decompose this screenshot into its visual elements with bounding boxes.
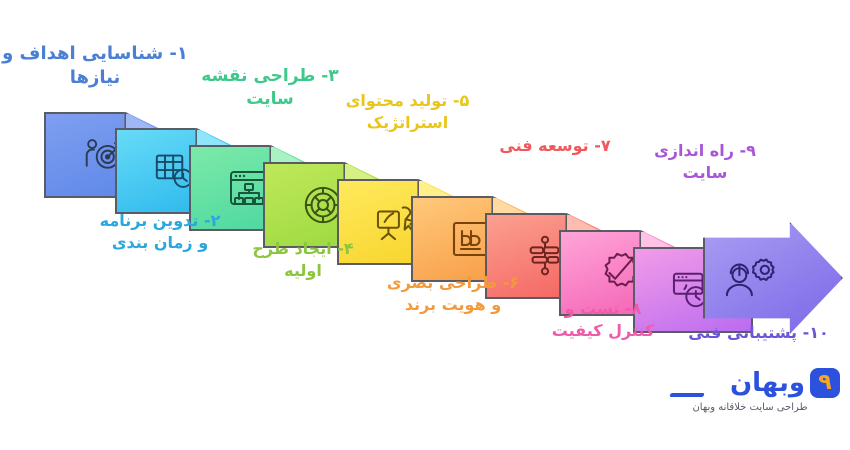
brand-logo: وبهان ۹ طراحی سایت خلاقانه وبهان (660, 368, 840, 413)
logo-tagline: طراحی سایت خلاقانه وبهان (660, 402, 840, 413)
step-label-8: ۸- تست و کنترل کیفیت (528, 298, 678, 341)
step-label-6: ۶- طراحی بصری و هویت برند (378, 272, 528, 315)
step-label-10: ۱۰- پشتیبانی فنی (676, 322, 841, 344)
support-engineer-gear-icon (709, 238, 790, 319)
step-label-3: ۳- طراحی نقشه سایت (195, 65, 345, 111)
step-card-10 (703, 222, 843, 334)
logo-swoosh-icon (669, 393, 704, 397)
step-label-4: ۴- ایجاد طرح اولیه (228, 238, 378, 281)
logo-wordmark: وبهان (730, 370, 805, 396)
step-label-5: ۵- تولید محتوای استراتژیک (330, 90, 485, 133)
infographic-canvas: ۱- شناسایی اهداف و نیازها ۲- تدوین برنام… (0, 0, 850, 450)
logo-mark-icon: ۹ (810, 368, 840, 398)
step-label-9: ۹- راه اندازی سایت (625, 140, 785, 183)
step-label-7: ۷- توسعه فنی (480, 135, 630, 157)
step-label-2: ۲- تدوین برنامه و زمان بندی (70, 210, 250, 253)
step-label-1: ۱- شناسایی اهداف و نیازها (0, 42, 190, 91)
